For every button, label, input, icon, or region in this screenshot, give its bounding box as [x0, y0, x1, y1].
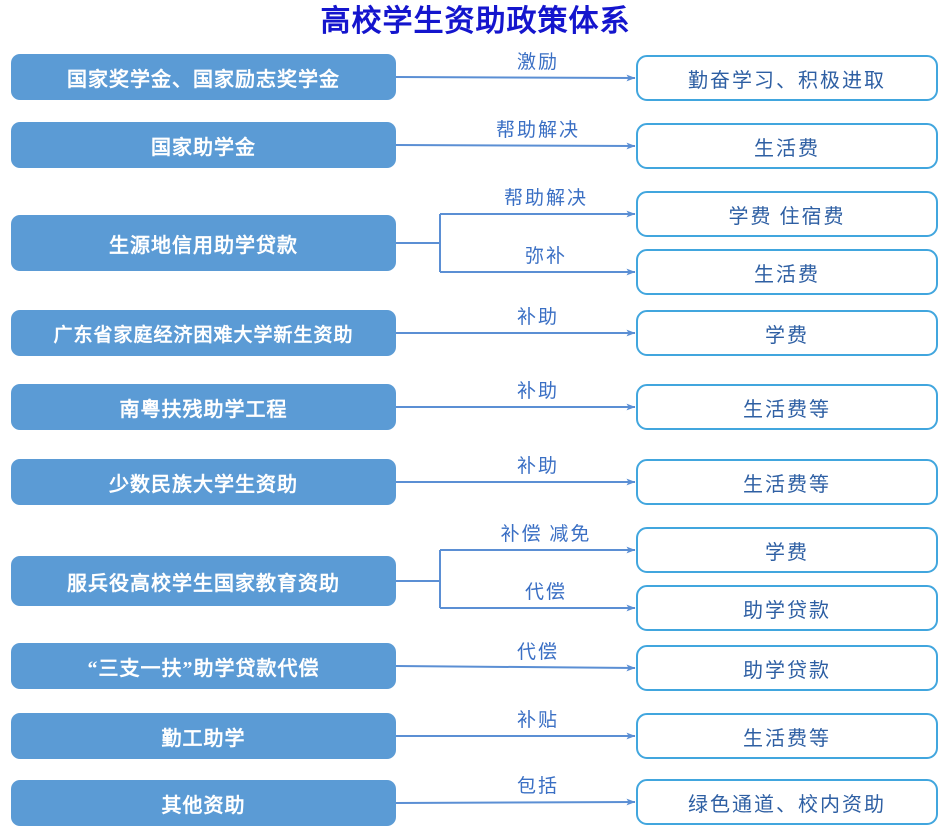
policy-box-label: 服兵役高校学生国家教育资助	[67, 567, 340, 596]
outcome-box-label: 绿色通道、校内资助	[688, 788, 886, 817]
policy-box[interactable]: 广东省家庭经济困难大学新生资助	[11, 310, 396, 356]
policy-box-label: 广东省家庭经济困难大学新生资助	[53, 320, 353, 347]
outcome-box[interactable]: 助学贷款	[636, 645, 938, 691]
outcome-box[interactable]: 学费 住宿费	[636, 191, 938, 237]
outcome-box[interactable]: 生活费等	[636, 384, 938, 430]
outcome-box-label: 生活费	[754, 258, 820, 287]
policy-box[interactable]: 服兵役高校学生国家教育资助	[11, 556, 396, 606]
policy-box-label: 其他资助	[162, 789, 246, 818]
outcome-box[interactable]: 学费	[636, 527, 938, 573]
relation-label: 帮助解决	[496, 115, 580, 142]
policy-box-label: 国家奖学金、国家励志奖学金	[67, 63, 340, 92]
outcome-box-label: 生活费等	[743, 468, 831, 497]
outcome-box[interactable]: 生活费	[636, 249, 938, 295]
policy-box[interactable]: 少数民族大学生资助	[11, 459, 396, 505]
outcome-box-label: 学费	[765, 319, 809, 348]
relation-label: 补偿 减免	[501, 519, 592, 546]
policy-box[interactable]: 其他资助	[11, 780, 396, 826]
policy-box-label: “三支一扶”助学贷款代偿	[88, 652, 320, 681]
policy-box[interactable]: 国家奖学金、国家励志奖学金	[11, 54, 396, 100]
relation-label: 包括	[517, 771, 559, 798]
relation-label: 代偿	[517, 637, 559, 664]
outcome-box-label: 勤奋学习、积极进取	[688, 64, 886, 93]
policy-box-label: 南粤扶残助学工程	[120, 393, 288, 422]
relation-label: 补助	[517, 376, 559, 403]
outcome-box[interactable]: 勤奋学习、积极进取	[636, 55, 938, 101]
outcome-box[interactable]: 生活费等	[636, 713, 938, 759]
relation-label: 弥补	[525, 241, 567, 268]
policy-box-label: 少数民族大学生资助	[109, 468, 298, 497]
outcome-box-label: 生活费等	[743, 722, 831, 751]
outcome-box-label: 助学贷款	[743, 594, 831, 623]
relation-label: 激励	[517, 47, 559, 74]
policy-box-label: 勤工助学	[162, 722, 246, 751]
policy-box[interactable]: 生源地信用助学贷款	[11, 215, 396, 271]
outcome-box-label: 助学贷款	[743, 654, 831, 683]
policy-box[interactable]: 勤工助学	[11, 713, 396, 759]
outcome-box[interactable]: 学费	[636, 310, 938, 356]
policy-box[interactable]: “三支一扶”助学贷款代偿	[11, 643, 396, 689]
relation-label: 帮助解决	[504, 183, 588, 210]
policy-box-label: 国家助学金	[151, 131, 256, 160]
page-title: 高校学生资助政策体系	[0, 2, 951, 42]
relation-label: 补贴	[517, 705, 559, 732]
outcome-box-label: 学费	[765, 536, 809, 565]
outcome-box[interactable]: 生活费等	[636, 459, 938, 505]
relation-label: 补助	[517, 451, 559, 478]
outcome-box[interactable]: 助学贷款	[636, 585, 938, 631]
diagram-canvas: 高校学生资助政策体系 国家奖学金、国家励志奖学金国家助学金生源地信用助学贷款广东…	[0, 0, 951, 838]
policy-box[interactable]: 南粤扶残助学工程	[11, 384, 396, 430]
outcome-box-label: 学费 住宿费	[729, 200, 846, 229]
relation-label: 代偿	[525, 577, 567, 604]
relation-label: 补助	[517, 302, 559, 329]
policy-box-label: 生源地信用助学贷款	[109, 229, 298, 258]
outcome-box[interactable]: 生活费	[636, 123, 938, 169]
outcome-box-label: 生活费等	[743, 393, 831, 422]
policy-box[interactable]: 国家助学金	[11, 122, 396, 168]
outcome-box[interactable]: 绿色通道、校内资助	[636, 779, 938, 825]
outcome-box-label: 生活费	[754, 132, 820, 161]
